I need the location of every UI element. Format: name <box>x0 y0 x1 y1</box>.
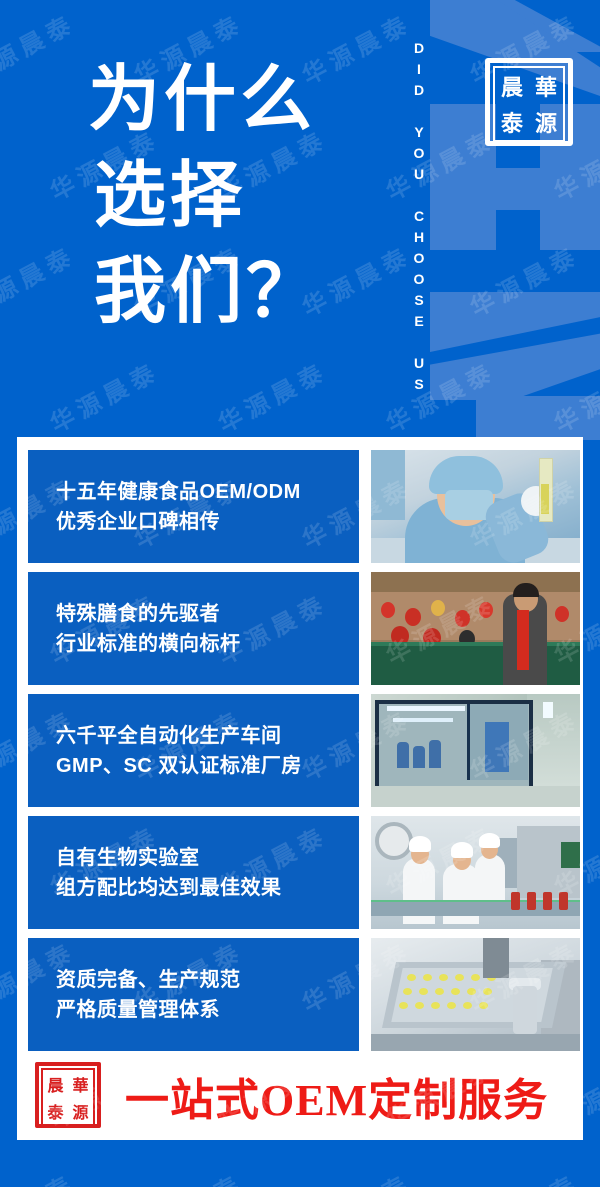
production-line-workers-photo <box>371 816 580 929</box>
feature-card[interactable]: 特殊膳食的先驱者 行业标准的横向标杆 <box>28 572 580 685</box>
title-line-3: 我们？ <box>94 244 388 340</box>
watermark-text: 华源晨泰 <box>127 1164 249 1187</box>
feature-line: GMP、SC 双认证标准厂房 <box>56 751 359 781</box>
seal-char-2: 華 <box>68 1070 93 1097</box>
watermark-text: 华源晨泰 <box>463 1164 585 1187</box>
feature-line: 特殊膳食的先驱者 <box>56 599 359 629</box>
tablet-blister-line-photo <box>371 938 580 1051</box>
seal-char-4: 源 <box>68 1097 93 1124</box>
title-line-2: 选择 <box>94 148 388 244</box>
cta-banner-text: 一站式OEM定制服务 <box>125 1064 548 1128</box>
seal-char-1: 晨 <box>43 1070 68 1097</box>
lab-technician-photo <box>371 450 580 563</box>
feature-card[interactable]: 自有生物实验室 组方配比均达到最佳效果 <box>28 816 580 929</box>
feature-line: 优秀企业口碑相传 <box>56 507 359 537</box>
title-line-1: 为什么 <box>88 52 388 148</box>
seal-char-2: 華 <box>529 68 563 104</box>
seal-char-3: 泰 <box>495 104 529 140</box>
feature-card-list: 十五年健康食品OEM/ODM 优秀企业口碑相传 特殊膳食的先驱者 行业标准的横向… <box>28 450 580 1060</box>
poster-header: 为什么 选择 我们？ DID YOU CHOOSE US 晨 華 泰 源 <box>0 0 600 437</box>
feature-card-text: 六千平全自动化生产车间 GMP、SC 双认证标准厂房 <box>28 694 359 807</box>
feature-card-text: 资质完备、生产规范 严格质量管理体系 <box>28 938 359 1051</box>
watermark-text: 华源晨泰 <box>295 1164 417 1187</box>
poster-root: 为什么 选择 我们？ DID YOU CHOOSE US 晨 華 泰 源 十五年… <box>0 0 600 1187</box>
company-seal-red: 晨 華 泰 源 <box>35 1062 101 1128</box>
conference-audience-photo <box>371 572 580 685</box>
feature-line: 六千平全自动化生产车间 <box>56 721 359 751</box>
feature-card-text: 自有生物实验室 组方配比均达到最佳效果 <box>28 816 359 929</box>
page-title: 为什么 选择 我们？ <box>88 52 388 340</box>
feature-line: 自有生物实验室 <box>56 843 359 873</box>
feature-line: 行业标准的横向标杆 <box>56 629 359 659</box>
feature-card[interactable]: 资质完备、生产规范 严格质量管理体系 <box>28 938 580 1051</box>
seal-char-3: 泰 <box>43 1097 68 1124</box>
cta-banner[interactable]: 一站式OEM定制服务 <box>17 1052 583 1140</box>
feature-line: 严格质量管理体系 <box>56 995 359 1025</box>
feature-line: 组方配比均达到最佳效果 <box>56 873 359 903</box>
feature-card-text: 十五年健康食品OEM/ODM 优秀企业口碑相传 <box>28 450 359 563</box>
feature-card-text: 特殊膳食的先驱者 行业标准的横向标杆 <box>28 572 359 685</box>
seal-char-1: 晨 <box>495 68 529 104</box>
feature-card[interactable]: 十五年健康食品OEM/ODM 优秀企业口碑相传 <box>28 450 580 563</box>
watermark-text: 华源晨泰 <box>0 1164 81 1187</box>
company-seal-white: 晨 華 泰 源 <box>485 58 573 146</box>
cleanroom-corridor-photo <box>371 694 580 807</box>
vertical-subtitle: DID YOU CHOOSE US <box>401 18 427 418</box>
feature-line: 十五年健康食品OEM/ODM <box>56 477 359 507</box>
seal-char-4: 源 <box>529 104 563 140</box>
feature-card[interactable]: 六千平全自动化生产车间 GMP、SC 双认证标准厂房 <box>28 694 580 807</box>
feature-line: 资质完备、生产规范 <box>56 965 359 995</box>
